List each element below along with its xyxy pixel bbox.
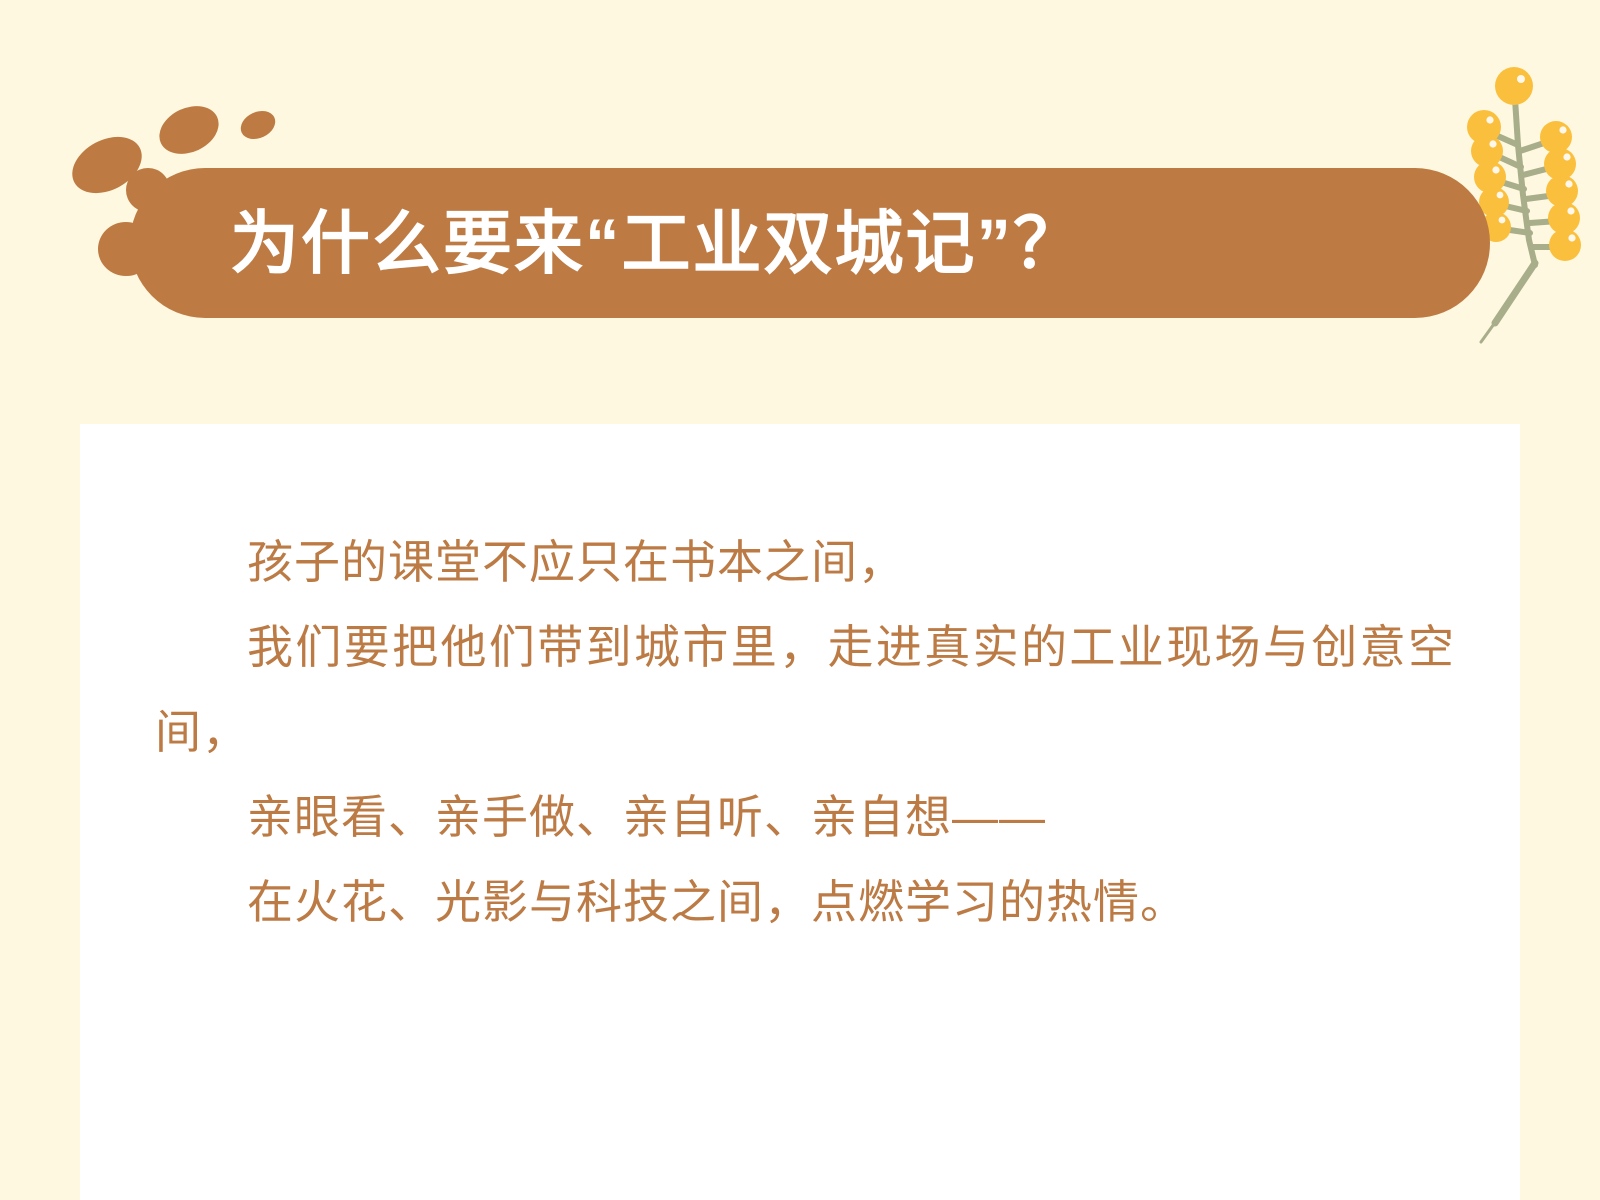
body-paragraph: 亲眼看、亲手做、亲自听、亲自想—— — [155, 775, 1455, 860]
body-paragraph: 在火花、光影与科技之间，点燃学习的热情。 — [155, 860, 1455, 945]
content-card: 孩子的课堂不应只在书本之间， 我们要把他们带到城市里，走进真实的工业现场与创意空… — [80, 424, 1520, 1200]
body-copy: 孩子的课堂不应只在书本之间， 我们要把他们带到城市里，走进真实的工业现场与创意空… — [155, 520, 1455, 945]
body-paragraph: 我们要把他们带到城市里，走进真实的工业现场与创意空间， — [155, 605, 1455, 775]
page-title: 为什么要来“工业双城记”？ — [130, 209, 1084, 278]
title-banner: 为什么要来“工业双城记”？ — [130, 168, 1490, 318]
blob-ellipse-medium-icon — [152, 97, 227, 163]
blob-ellipse-small-icon — [236, 106, 280, 145]
body-paragraph: 孩子的课堂不应只在书本之间， — [155, 520, 1455, 605]
poster-canvas: 为什么要来“工业双城记”？ 孩子的课堂不应只在书本之间， 我们要把他们带到城市里… — [0, 0, 1600, 1200]
